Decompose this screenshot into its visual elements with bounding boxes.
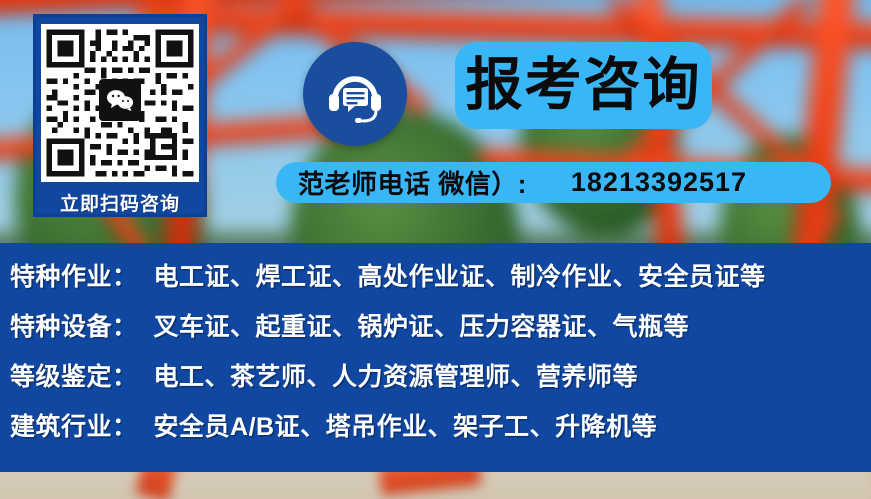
category-items: 叉车证、起重证、锅炉证、压力容器证、气瓶等 — [154, 307, 690, 343]
headset-support-badge — [303, 42, 407, 146]
category-row: 特种设备： 叉车证、起重证、锅炉证、压力容器证、气瓶等 — [10, 307, 871, 357]
contact-phone-pill[interactable]: 范老师电话 微信）: 18213392517 — [276, 162, 831, 203]
qr-code-image[interactable] — [41, 24, 199, 182]
bottom-photo-blur — [0, 472, 871, 499]
certificate-categories-panel: 特种作业： 电工证、焊工证、高处作业证、制冷作业、安全员证等 特种设备： 叉车证… — [0, 243, 871, 472]
category-row: 特种作业： 电工证、焊工证、高处作业证、制冷作业、安全员证等 — [10, 257, 871, 307]
bottom-photo-strip — [0, 472, 871, 499]
category-label: 等级鉴定： — [10, 357, 138, 393]
title-text: 报考咨询 — [466, 57, 702, 114]
category-items: 安全员A/B证、塔吊作业、架子工、升降机等 — [154, 407, 658, 443]
contact-label: 范老师电话 微信）: — [298, 164, 527, 201]
category-items: 电工、茶艺师、人力资源管理师、营养师等 — [154, 357, 639, 393]
qr-code-card[interactable]: 立即扫码咨询 — [33, 14, 207, 217]
wechat-logo-icon — [99, 79, 141, 121]
category-items: 电工证、焊工证、高处作业证、制冷作业、安全员证等 — [154, 257, 766, 293]
category-row: 建筑行业： 安全员A/B证、塔吊作业、架子工、升降机等 — [10, 407, 871, 457]
wechat-glyph — [106, 89, 134, 111]
headset-icon — [322, 61, 388, 127]
category-label: 建筑行业： — [10, 407, 138, 443]
bottom-crane-part — [379, 472, 482, 495]
category-label: 特种设备： — [10, 307, 138, 343]
title-pill[interactable]: 报考咨询 — [455, 42, 712, 129]
qr-card-caption: 立即扫码咨询 — [60, 189, 180, 216]
contact-phone-number[interactable]: 18213392517 — [571, 167, 747, 198]
category-row: 等级鉴定： 电工、茶艺师、人力资源管理师、营养师等 — [10, 357, 871, 407]
bottom-crane-part — [135, 472, 179, 499]
category-label: 特种作业： — [10, 257, 138, 293]
promo-poster: 立即扫码咨询 报考咨询 范老师电话 微信）: 18213392517 — [0, 0, 871, 499]
